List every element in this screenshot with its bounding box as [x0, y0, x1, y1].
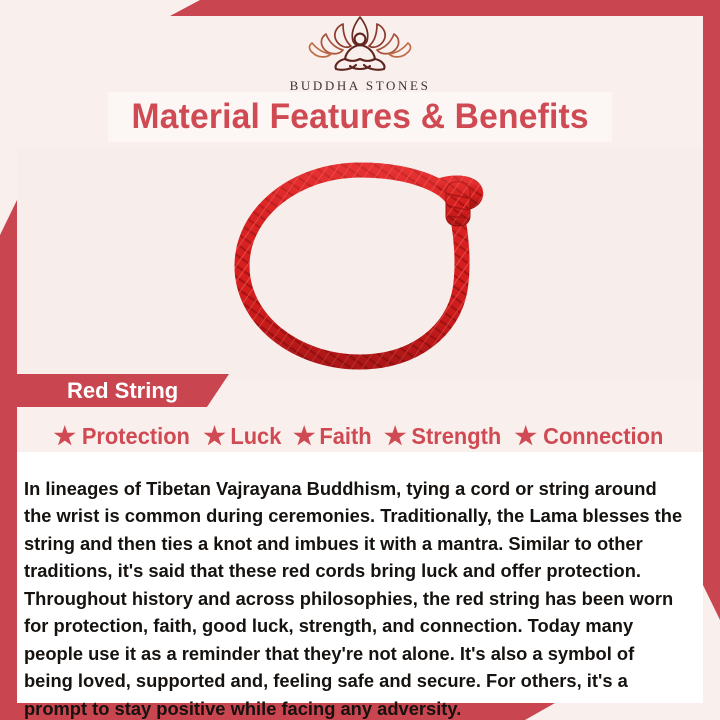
star-icon — [54, 425, 76, 447]
frame-strip-left — [0, 200, 17, 720]
brand-logo: BUDDHA STONES — [0, 14, 720, 94]
product-label: Red String — [17, 378, 178, 404]
red-string-bracelet-image — [210, 154, 510, 380]
page-title: Material Features & Benefits — [131, 97, 588, 137]
star-icon — [384, 425, 406, 447]
description-text: In lineages of Tibetan Vajrayana Buddhis… — [24, 475, 686, 720]
feature-label: Connection — [543, 423, 663, 450]
feature-item-strength: Strength — [380, 423, 508, 450]
lotus-meditation-icon — [300, 14, 420, 76]
feature-item-luck: Luck — [200, 423, 287, 450]
title-banner: Material Features & Benefits — [108, 92, 612, 142]
poster-canvas: BUDDHA STONES Material Features & Benefi… — [0, 0, 720, 720]
feature-item-protection: Protection — [50, 423, 197, 450]
product-image-area — [17, 148, 703, 380]
star-icon — [293, 425, 315, 447]
features-row: Protection Luck Faith Strength Connectio… — [17, 418, 703, 454]
feature-label: Luck — [230, 423, 281, 450]
star-icon — [515, 425, 537, 447]
feature-item-connection: Connection — [511, 423, 671, 450]
product-label-banner: Red String — [17, 374, 229, 407]
feature-label: Strength — [412, 423, 502, 450]
feature-label: Protection — [82, 423, 190, 450]
feature-item-faith: Faith — [289, 423, 377, 450]
feature-label: Faith — [320, 423, 372, 450]
star-icon — [204, 425, 226, 447]
